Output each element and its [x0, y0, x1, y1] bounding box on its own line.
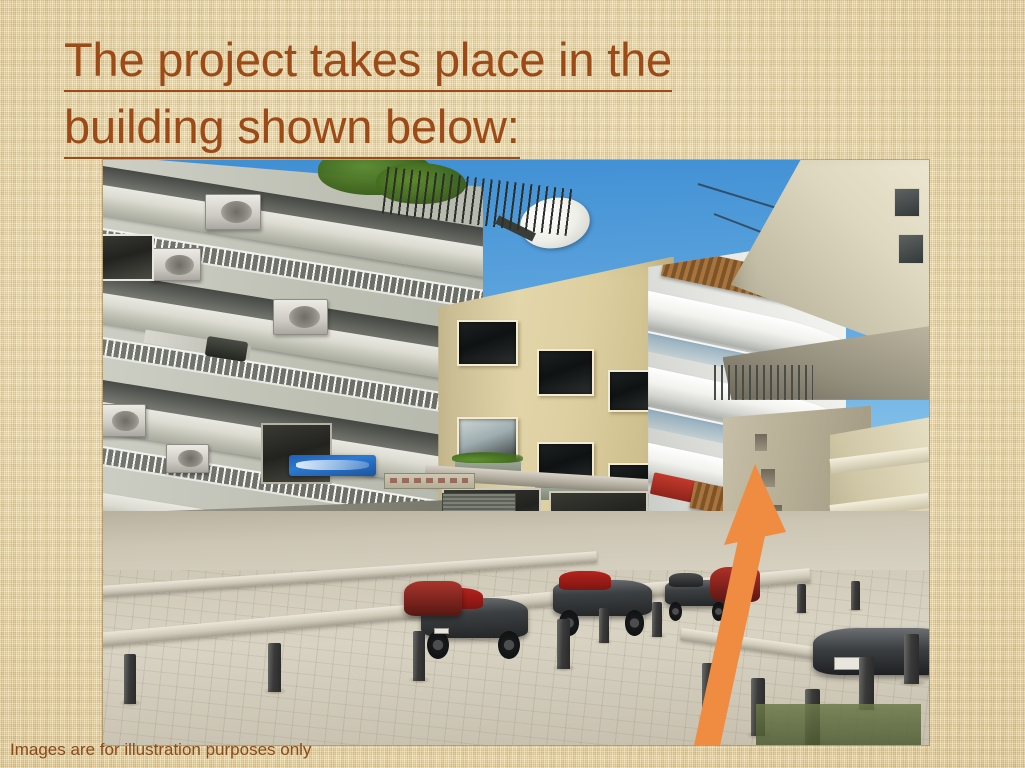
building-photo [103, 160, 929, 745]
overhang-window-2 [898, 234, 924, 263]
subject-window-r1c1 [457, 320, 518, 366]
scooter-wheel-front [427, 631, 448, 659]
scooter-seat [669, 573, 703, 587]
title-line-2: building shown below: [64, 97, 520, 159]
bollard-4 [557, 619, 569, 669]
photo-content [103, 160, 929, 745]
title-line-2-row: building shown below: [64, 97, 824, 159]
bollard-1 [124, 654, 136, 704]
scooter-seat [559, 571, 611, 590]
balcony-glass-enclosure [103, 234, 154, 281]
subject-window-r1c2 [537, 349, 593, 395]
scooter-wheel-rear [712, 602, 725, 621]
title-line-1-row: The project takes place in the [64, 30, 824, 92]
bollard-10 [652, 602, 662, 637]
scooter-wheel-rear [625, 610, 645, 636]
grass-patch [756, 704, 921, 745]
overhang-window-1 [894, 188, 920, 217]
bollard-14 [599, 608, 609, 643]
shop-sign-text-banner [384, 473, 475, 489]
air-conditioner-unit-4 [103, 404, 146, 437]
overhang-balcony-rail [714, 365, 813, 400]
bollard-9 [904, 634, 919, 684]
page-title: The project takes place in the building … [64, 30, 824, 159]
air-conditioner-unit-3 [273, 299, 329, 335]
bollard-12 [797, 584, 806, 613]
bollard-13 [851, 581, 860, 610]
bollard-3 [413, 631, 425, 681]
title-line-1: The project takes place in the [64, 30, 672, 92]
slide-canvas: The project takes place in the building … [0, 0, 1025, 768]
wall-scar-1 [755, 434, 767, 452]
scooter-wheel-front [669, 602, 682, 621]
air-conditioner-unit-5 [166, 444, 210, 473]
air-conditioner-unit-2 [150, 248, 202, 281]
bollard-11 [731, 590, 740, 622]
parked-car-left [404, 581, 462, 616]
shop-sign-blue [289, 455, 376, 476]
bollard-2 [268, 643, 280, 693]
scooter-wheel-rear [498, 631, 519, 659]
air-conditioner-unit-1 [205, 194, 261, 230]
bollard-8 [859, 657, 874, 710]
bollard-5 [702, 663, 715, 719]
footer-disclaimer: Images are for illustration purposes onl… [10, 740, 311, 760]
scooter-plate [434, 628, 449, 634]
wall-scar-2 [761, 469, 774, 487]
